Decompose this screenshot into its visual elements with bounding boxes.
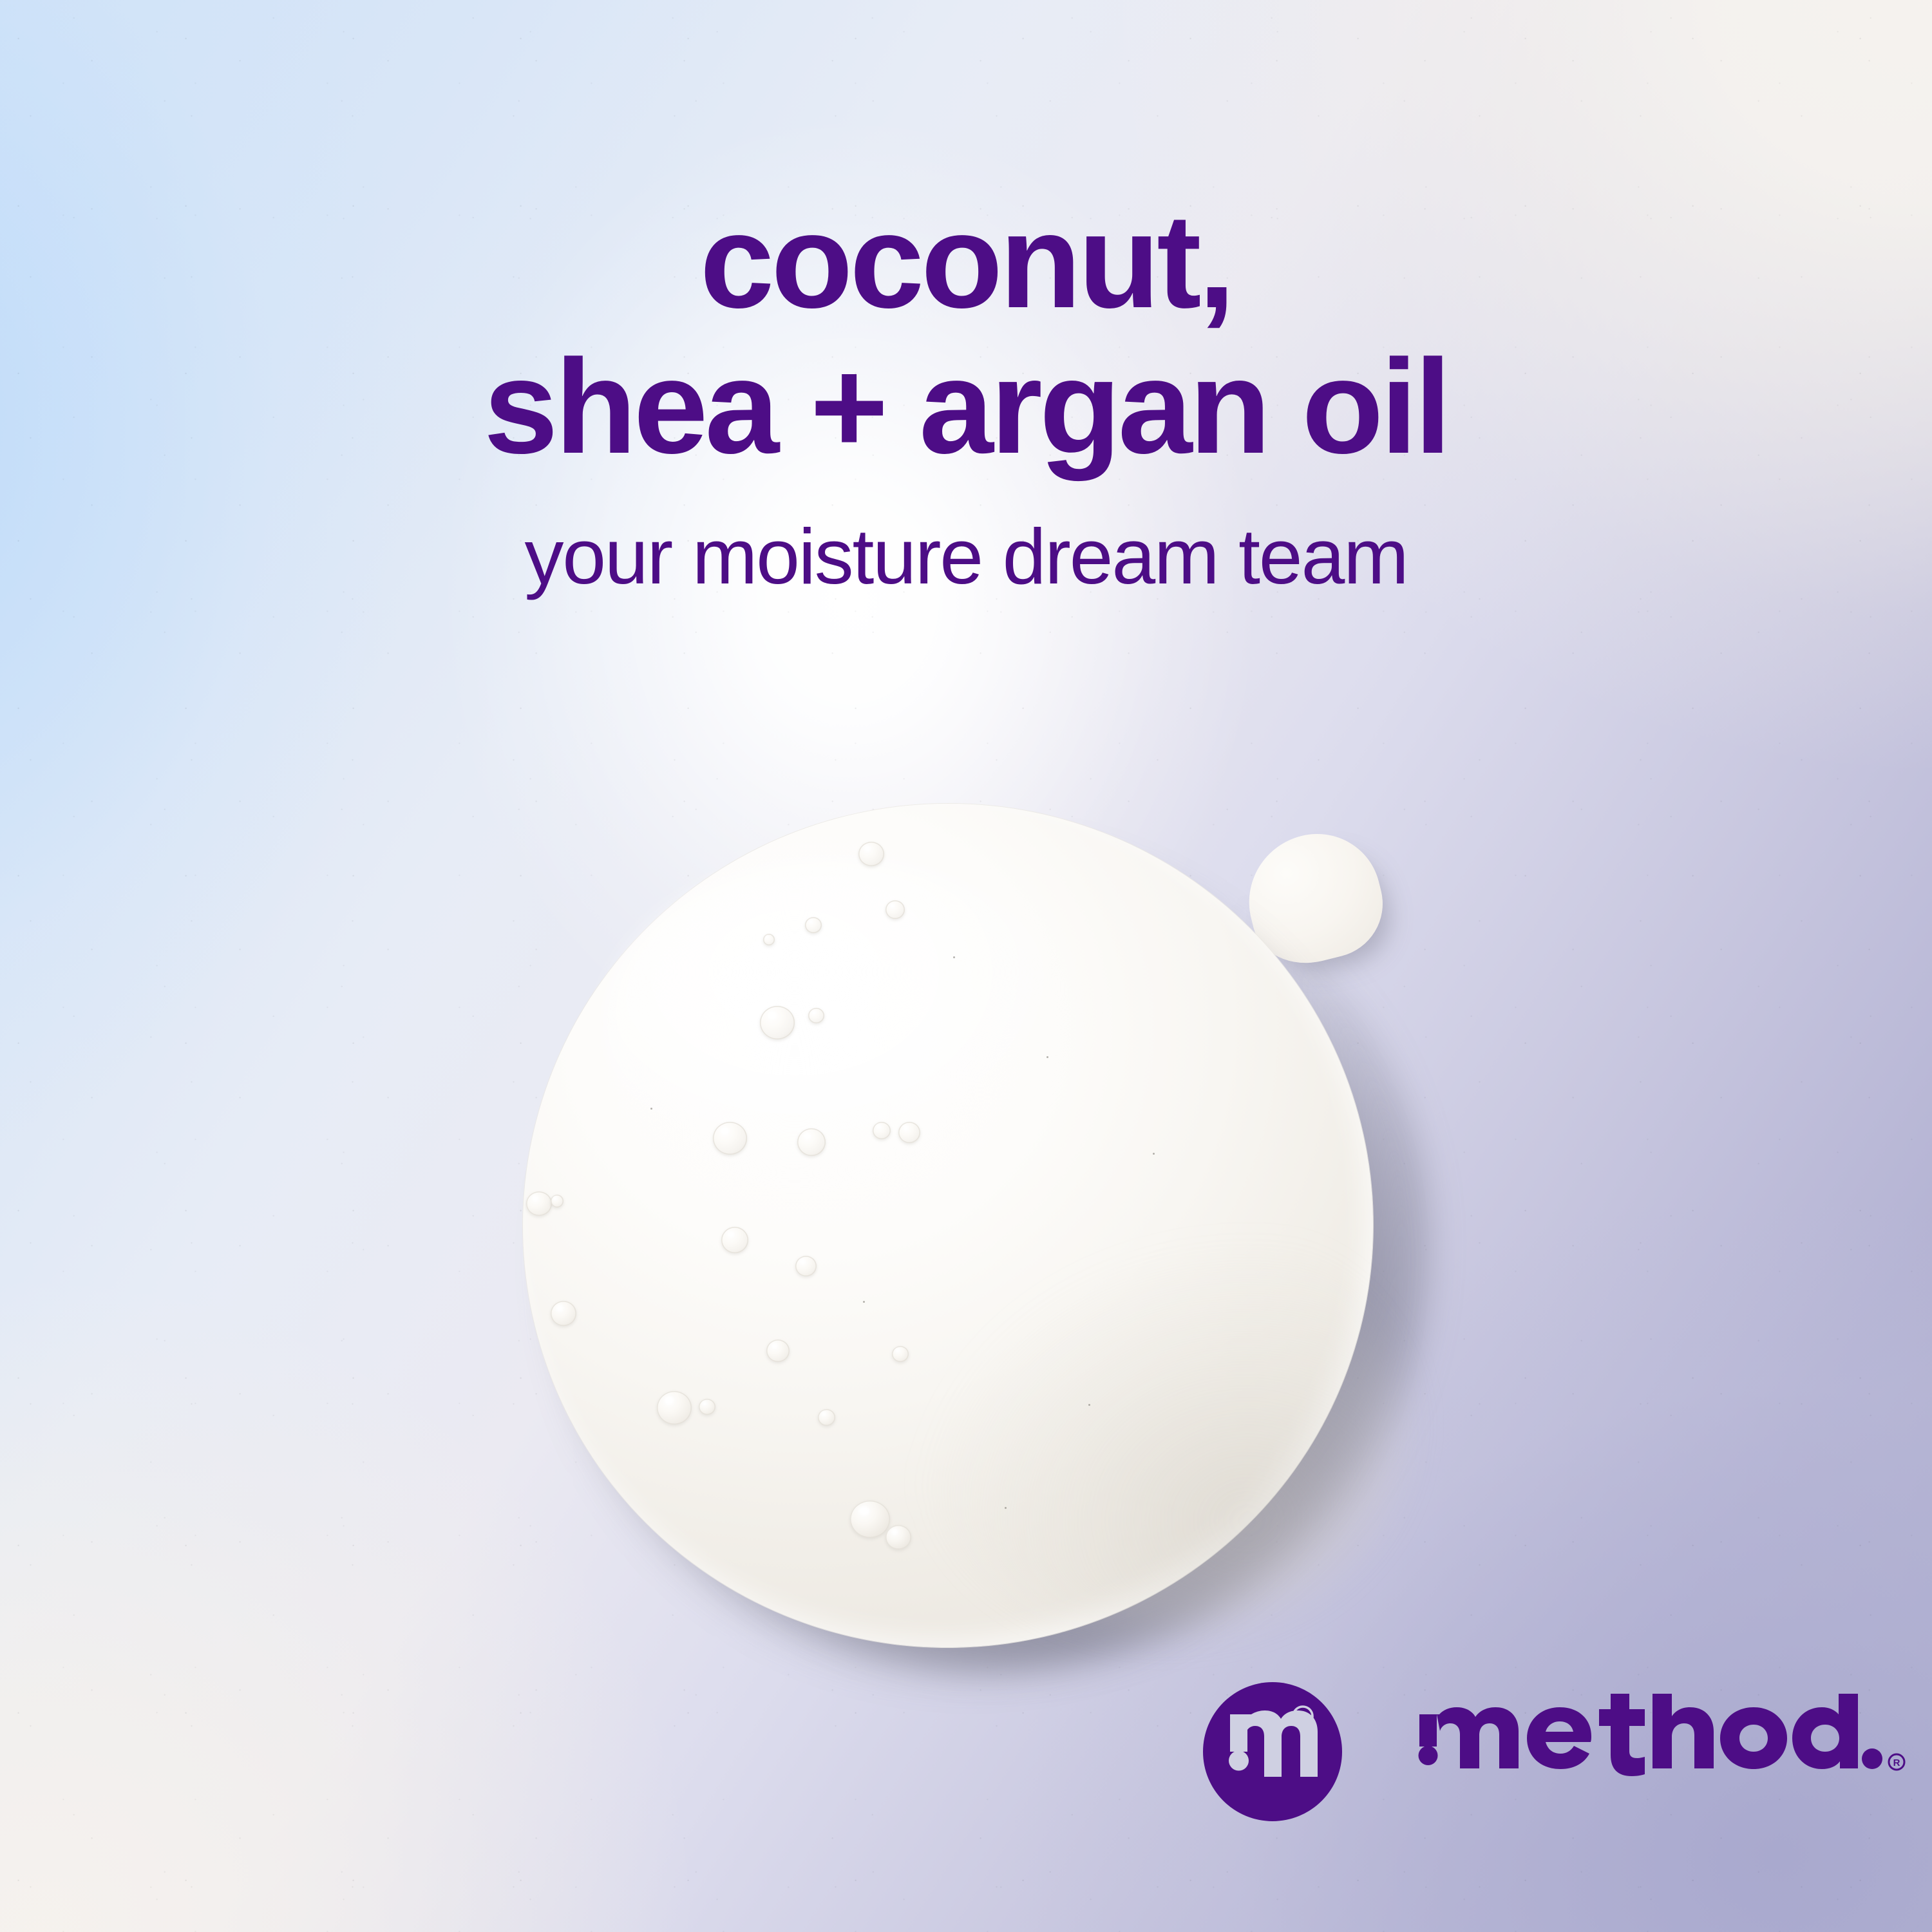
wordmark-label: method — [1417, 1810, 1417, 1810]
droplet-bubble — [818, 1409, 835, 1426]
droplet-bubble — [760, 1006, 795, 1039]
ad-creative-canvas: coconut, shea + argan oil your moisture … — [0, 0, 1932, 1932]
droplet-bubble — [551, 1195, 563, 1207]
droplet-speck — [863, 1301, 865, 1303]
method-m-circle-icon[interactable]: R method — [1203, 1682, 1342, 1821]
subheadline: your moisture dream team — [0, 515, 1932, 598]
droplet-bubble — [721, 1227, 748, 1253]
droplet-bubble — [713, 1122, 747, 1155]
method-wordmark[interactable]: R method — [1417, 1694, 1798, 1810]
droplet-speck — [1005, 1507, 1007, 1509]
droplet-bubble — [766, 1340, 790, 1362]
droplet-bubble — [873, 1122, 891, 1139]
droplet-bubble — [858, 842, 884, 866]
droplet-bubble — [898, 1122, 920, 1143]
headline-line-1: coconut, — [0, 193, 1932, 330]
droplet-bubble — [657, 1391, 692, 1425]
page-title: coconut, shea + argan oil — [0, 193, 1932, 475]
droplet-bubble — [805, 917, 822, 933]
droplet-bubble — [885, 900, 905, 919]
droplet-bubble — [699, 1399, 715, 1415]
droplet-speck — [1088, 1404, 1090, 1406]
droplet-bubble — [795, 1256, 817, 1276]
droplet-speck — [650, 1108, 652, 1110]
droplet-bubble — [526, 1191, 552, 1216]
droplet-highlight-sheen — [599, 857, 1088, 1217]
droplet-bubble — [885, 1525, 911, 1549]
svg-text:R: R — [1298, 1710, 1308, 1724]
brand-logo-lockup[interactable]: R method — [1203, 1682, 1798, 1821]
droplet-bubble — [763, 934, 775, 945]
copy-block: coconut, shea + argan oil your moisture … — [0, 193, 1932, 598]
droplet-bubble — [850, 1501, 890, 1538]
droplet-bubble — [892, 1346, 909, 1362]
headline-line-2: shea + argan oil — [0, 339, 1932, 475]
droplet-speck — [1046, 1056, 1048, 1058]
svg-text:R: R — [1893, 1757, 1900, 1768]
droplet-speck — [953, 956, 955, 958]
droplet-bubble — [808, 1008, 824, 1023]
droplet-speck — [1153, 1153, 1155, 1155]
droplet-bubble — [797, 1128, 826, 1156]
droplet-bubble — [551, 1301, 576, 1326]
droplet-inner-shading — [914, 1211, 1404, 1629]
